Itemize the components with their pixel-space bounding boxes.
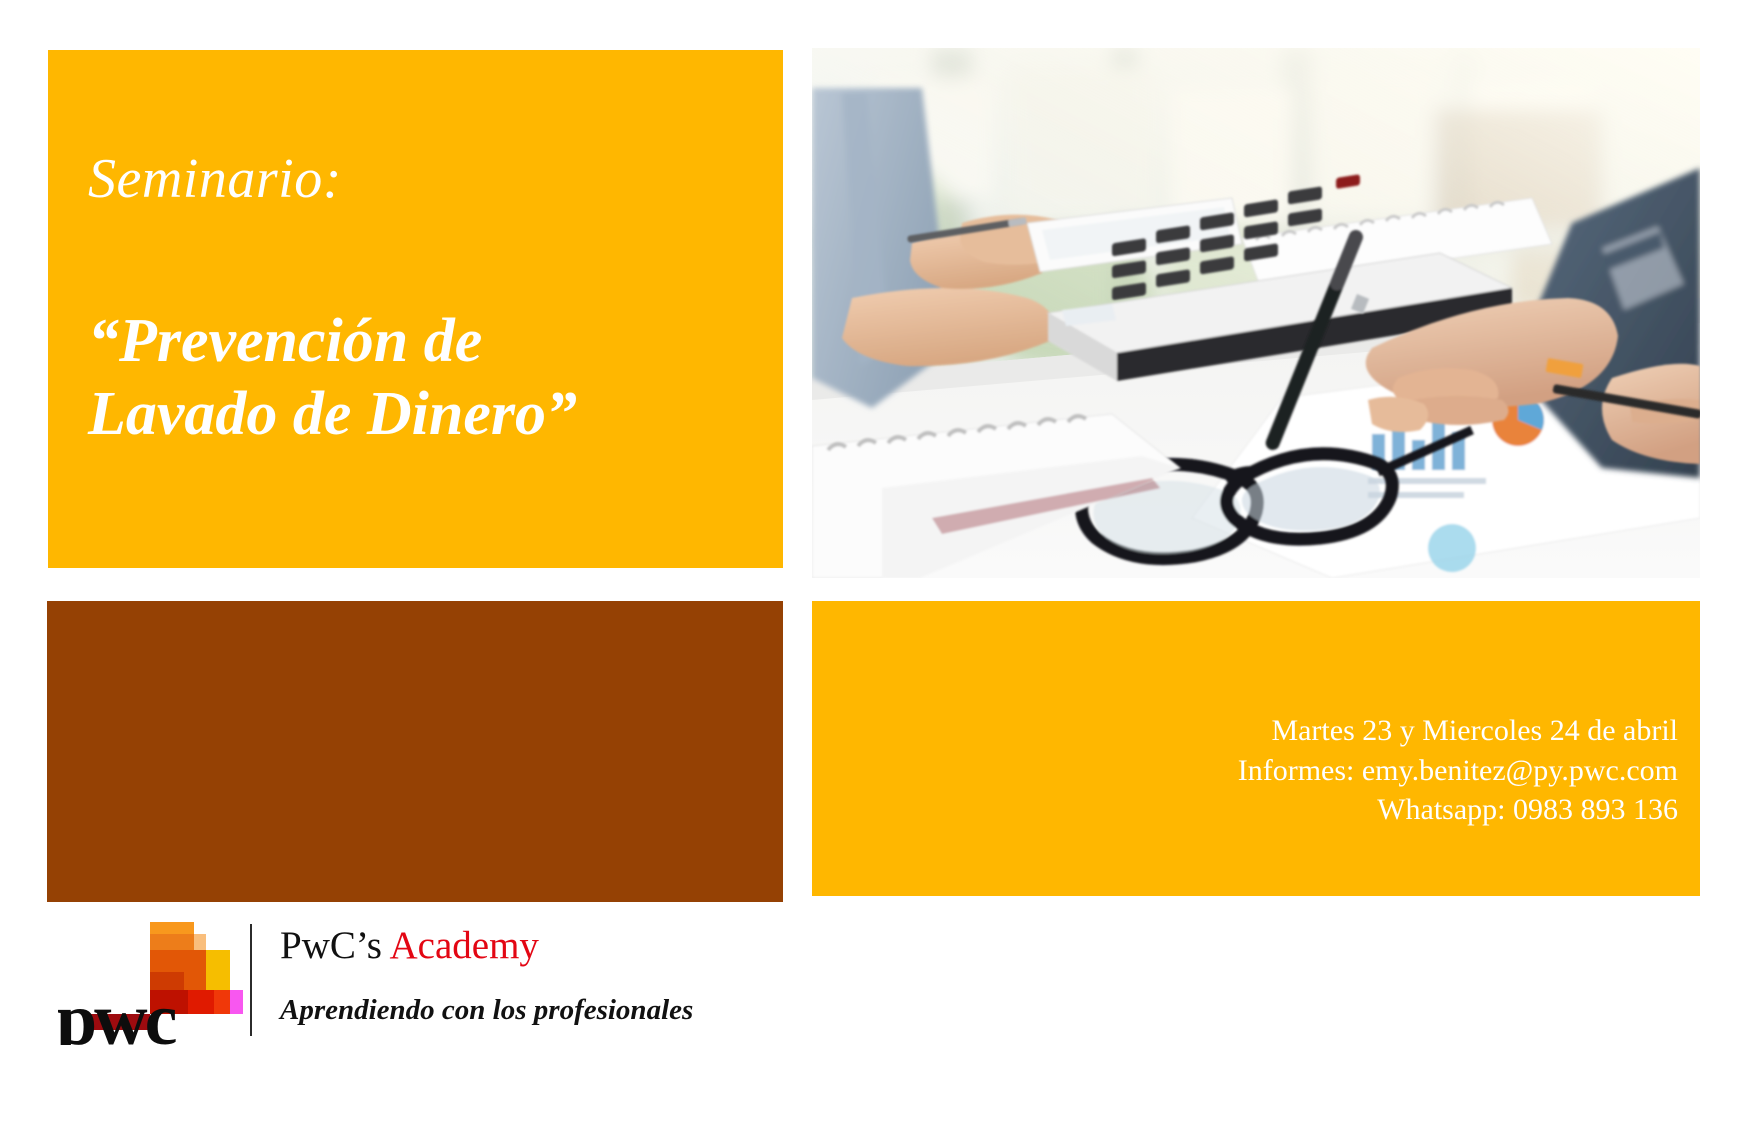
- academy-brand-line: PwC’s Academy: [280, 926, 693, 965]
- pwc-wordmark: pwc: [58, 979, 176, 1045]
- lockup-text-group: PwC’s Academy Aprendiendo con los profes…: [280, 920, 693, 1027]
- pwc-logo-glyph: pwc: [58, 920, 243, 1045]
- svg-text:pwc: pwc: [58, 979, 176, 1045]
- contact-email-line[interactable]: Informes: emy.benitez@py.pwc.com: [1238, 751, 1678, 791]
- academy-word: Academy: [389, 924, 538, 967]
- hero-photo-illustration: [812, 48, 1700, 578]
- academy-prefix: PwC’s: [280, 924, 389, 967]
- academy-tagline: Aprendiendo con los profesionales: [280, 994, 693, 1027]
- kicker-text: Seminario:: [88, 150, 759, 209]
- page-title-line-2: Lavado de Dinero”: [88, 378, 759, 451]
- title-panel: Seminario: “Prevención de Lavado de Dine…: [48, 50, 783, 568]
- pwc-logo: pwc: [58, 920, 243, 1045]
- contact-panel: Martes 23 y Miercoles 24 de abril Inform…: [812, 601, 1700, 896]
- contact-whatsapp-line[interactable]: Whatsapp: 0983 893 136: [1238, 790, 1678, 830]
- page-title-line-1: “Prevención de: [88, 305, 759, 378]
- lockup-divider: [250, 924, 252, 1036]
- hero-photo: [812, 48, 1700, 578]
- title-text-group: Seminario: “Prevención de Lavado de Dine…: [88, 150, 759, 451]
- contact-details: Martes 23 y Miercoles 24 de abril Inform…: [1238, 711, 1678, 830]
- brown-accent-block: [47, 601, 783, 902]
- page-title: “Prevención de Lavado de Dinero”: [88, 305, 759, 451]
- footer-brand-lockup: pwc PwC’s Academy Aprendiendo con los pr…: [58, 920, 758, 1060]
- event-dates: Martes 23 y Miercoles 24 de abril: [1238, 711, 1678, 751]
